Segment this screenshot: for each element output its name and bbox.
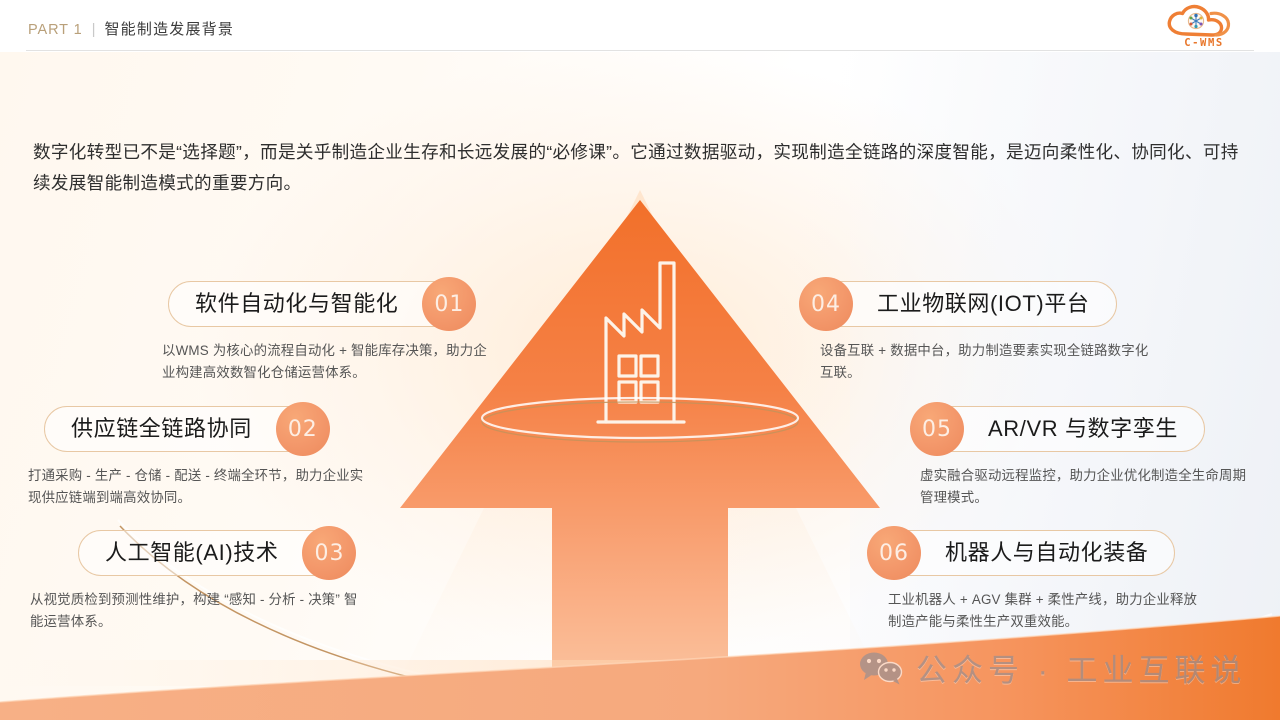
- slide-header: PART 1 | 智能制造发展背景: [0, 0, 1280, 52]
- feature-pill-03[interactable]: 人工智能(AI)技术 03: [78, 530, 345, 576]
- ellipse-orbit: [482, 398, 798, 442]
- feature-badge-01: 01: [422, 277, 476, 331]
- feature-pill-01[interactable]: 软件自动化与智能化 01: [168, 281, 465, 327]
- brand-logo: C-WMS: [1156, 4, 1252, 48]
- feature-item-04[interactable]: 04 工业物联网(IOT)平台 设备互联 + 数据中台，助力制造要素实现全链路数…: [810, 281, 1150, 384]
- breadcrumb: PART 1 | 智能制造发展背景: [28, 18, 234, 39]
- feature-desc-01: 以WMS 为核心的流程自动化 + 智能库存决策，助力企业构建高效数智化仓储运营体…: [162, 340, 492, 384]
- feature-badge-03: 03: [302, 526, 356, 580]
- logo-wordmark: C-WMS: [1156, 37, 1252, 49]
- feature-pill-04[interactable]: 04 工业物联网(IOT)平台: [810, 281, 1117, 327]
- up-arrow-shape: [400, 200, 880, 700]
- factory-icon: [598, 263, 684, 422]
- slide-root: PART 1 | 智能制造发展背景 C-WMS 数字化转型已不是“选择题”，而是…: [0, 0, 1280, 720]
- feature-desc-04: 设备互联 + 数据中台，助力制造要素实现全链路数字化互联。: [820, 340, 1150, 384]
- feature-item-01[interactable]: 软件自动化与智能化 01 以WMS 为核心的流程自动化 + 智能库存决策，助力企…: [168, 281, 492, 384]
- cloud-icon: [1156, 4, 1252, 40]
- feature-desc-02: 打通采购 - 生产 - 仓储 - 配送 - 终端全环节，助力企业实现供应链端到端…: [28, 465, 368, 509]
- page-title: 智能制造发展背景: [104, 18, 234, 39]
- feature-badge-04: 04: [799, 277, 853, 331]
- feature-desc-05: 虚实融合驱动远程监控，助力企业优化制造全生命周期管理模式。: [920, 465, 1250, 509]
- feature-title-02: 供应链全链路协同: [71, 418, 252, 440]
- feature-desc-06: 工业机器人 + AGV 集群 + 柔性产线，助力企业释放制造产能与柔性生产双重效…: [888, 589, 1208, 633]
- watermark-text: 公众号 · 工业互联说: [916, 645, 1247, 690]
- feature-item-05[interactable]: 05 AR/VR 与数字孪生 虚实融合驱动远程监控，助力企业优化制造全生命周期管…: [921, 406, 1250, 509]
- feature-pill-02[interactable]: 供应链全链路协同 02: [44, 406, 319, 452]
- watermark: 公众号 · 工业互联说: [858, 645, 1247, 690]
- feature-title-04: 工业物联网(IOT)平台: [877, 293, 1090, 315]
- feature-item-06[interactable]: 06 机器人与自动化装备 工业机器人 + AGV 集群 + 柔性产线，助力企业释…: [878, 530, 1208, 633]
- sphere-group: [431, 663, 839, 720]
- wechat-icon: [858, 650, 904, 686]
- header-divider-rule: [26, 50, 1254, 51]
- feature-item-02[interactable]: 供应链全链路协同 02 打通采购 - 生产 - 仓储 - 配送 - 终端全环节，…: [44, 406, 368, 509]
- feature-desc-03: 从视觉质检到预测性维护，构建 “感知 - 分析 - 决策” 智能运营体系。: [30, 589, 360, 633]
- feature-pill-06[interactable]: 06 机器人与自动化装备: [878, 530, 1175, 576]
- part-label: PART 1: [28, 22, 83, 38]
- feature-title-05: AR/VR 与数字孪生: [988, 418, 1178, 440]
- feature-title-01: 软件自动化与智能化: [195, 293, 398, 315]
- feature-title-03: 人工智能(AI)技术: [105, 542, 278, 564]
- feature-title-06: 机器人与自动化装备: [945, 542, 1148, 564]
- feature-badge-05: 05: [910, 402, 964, 456]
- feature-item-03[interactable]: 人工智能(AI)技术 03 从视觉质检到预测性维护，构建 “感知 - 分析 - …: [78, 530, 360, 633]
- intro-paragraph: 数字化转型已不是“选择题”，而是关乎制造企业生存和长远发展的“必修课”。它通过数…: [33, 137, 1245, 199]
- header-divider: |: [92, 21, 96, 38]
- feature-pill-05[interactable]: 05 AR/VR 与数字孪生: [921, 406, 1205, 452]
- feature-badge-02: 02: [276, 402, 330, 456]
- feature-badge-06: 06: [867, 526, 921, 580]
